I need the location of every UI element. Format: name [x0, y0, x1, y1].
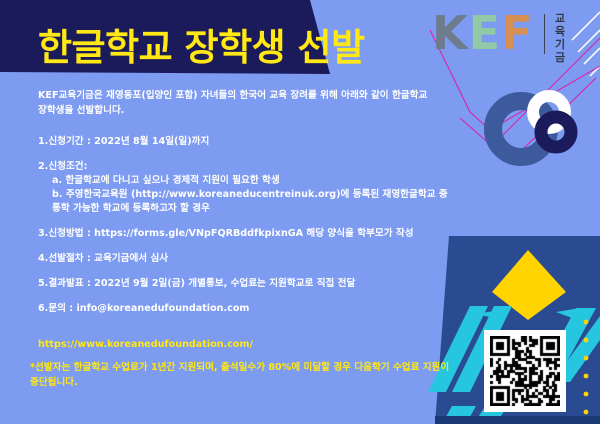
list-item: 6.문의 : info@koreanedufoundation.com — [38, 302, 468, 316]
scholarship-poster: KEF 교육기금 한글학교 장학생 선발 KEF교육기금은 재영동포(입양인 포… — [0, 0, 600, 424]
item-2-sub-b: b. 주영한국교육원 (http://www.koreaneducentrein… — [52, 188, 468, 202]
kef-logo: KEF 교육기금 — [432, 8, 592, 60]
item-1-text: 1.신청기간 : 2022년 8월 14일(일)까지 — [38, 135, 468, 149]
item-2-text: 2.신청조건: — [38, 160, 468, 174]
item-2-sub-a: a. 한글학교에 다니고 싶으나 경제적 지원이 필요한 학생 — [52, 174, 468, 188]
list-item: 1.신청기간 : 2022년 8월 14일(일)까지 — [38, 135, 468, 149]
panel-baseline — [435, 416, 600, 424]
yellow-diamond — [492, 250, 566, 320]
list-item: 5.결과발표 : 2022년 9월 2일(금) 개별통보, 수업료는 지원학교로… — [38, 277, 468, 291]
logo-letter-f: F — [501, 6, 533, 60]
yellow-dotted-line — [584, 320, 589, 415]
list-item: 3.신청방법 : https://forms.gle/VNpFQRBddfkpi… — [38, 227, 468, 241]
logo-letter-e: E — [469, 6, 501, 60]
page-title: 한글학교 장학생 선발 — [38, 26, 365, 70]
item-3-text: 3.신청방법 : https://forms.gle/VNpFQRBddfkpi… — [38, 227, 468, 241]
website-url[interactable]: https://www.koreanedufoundation.com/ — [38, 338, 253, 352]
intro-paragraph: KEF교육기금은 재영동포(입양인 포함) 자녀들의 한국어 교육 장려를 위해… — [38, 88, 438, 118]
qr-code[interactable] — [484, 330, 566, 412]
logo-letters: KEF — [432, 8, 534, 58]
list-item: 4.선발절차 : 교육기금에서 심사 — [38, 252, 468, 266]
logo-vertical-text: 교육기금 — [552, 12, 568, 64]
logo-divider — [544, 14, 545, 54]
item-5-text: 5.결과발표 : 2022년 9월 2일(금) 개별통보, 수업료는 지원학교로… — [38, 277, 468, 291]
list-item: 2.신청조건: a. 한글학교에 다니고 싶으나 경제적 지원이 필요한 학생 … — [38, 160, 468, 216]
qr-code-image — [490, 336, 560, 406]
logo-letter-k: K — [432, 6, 469, 60]
item-6-text: 6.문의 : info@koreanedufoundation.com — [38, 302, 468, 316]
footnote-text: *선발자는 한글학교 수업료가 1년간 지원되며, 출석일수가 80%에 미달할… — [30, 360, 450, 390]
cyan-accents — [476, 308, 580, 318]
item-4-text: 4.선발절차 : 교육기금에서 심사 — [38, 252, 468, 266]
item-2-sub-b-continued: 통학 가능한 학교에 등록하고자 할 경우 — [52, 202, 468, 216]
announcement-list: 1.신청기간 : 2022년 8월 14일(일)까지 2.신청조건: a. 한글… — [38, 135, 468, 327]
ring-cluster — [493, 96, 571, 157]
